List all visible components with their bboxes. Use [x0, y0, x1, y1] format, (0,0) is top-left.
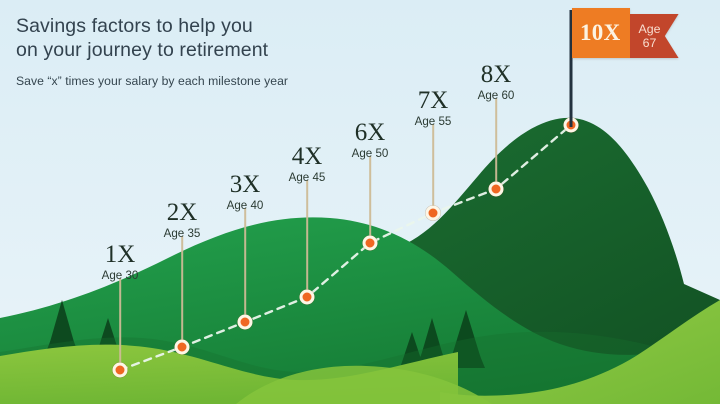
- milestone-multiplier: 1X: [102, 242, 139, 268]
- milestone-dot-6[interactable]: [426, 206, 441, 221]
- milestone-label-5: 6X Age 50: [352, 120, 389, 161]
- milestone-stem-2: [181, 236, 183, 345]
- milestone-label-7: 8X Age 60: [478, 62, 515, 103]
- milestone-age: Age 50: [352, 147, 389, 161]
- milestone-label-2: 2X Age 35: [164, 200, 201, 241]
- milestone-multiplier: 3X: [227, 172, 264, 198]
- page-subtitle: Save “x” times your salary by each miles…: [16, 74, 288, 89]
- milestone-stem-6: [432, 124, 434, 211]
- infographic-canvas: Savings factors to help you on your jour…: [0, 0, 720, 404]
- flag-age-value: 67: [643, 36, 657, 50]
- milestone-dot-7[interactable]: [489, 182, 504, 197]
- milestone-dot-2[interactable]: [175, 340, 190, 355]
- milestone-age: Age 55: [415, 115, 452, 129]
- milestone-label-4: 4X Age 45: [289, 144, 326, 185]
- milestone-multiplier: 2X: [164, 200, 201, 226]
- milestone-stem-4: [306, 180, 308, 295]
- milestone-age: Age 45: [289, 171, 326, 185]
- milestone-stem-3: [244, 208, 246, 320]
- milestone-age: Age 35: [164, 227, 201, 241]
- milestone-multiplier: 4X: [289, 144, 326, 170]
- summit-flag: 10X Age 67: [572, 8, 679, 58]
- flag-age-label: Age: [639, 22, 661, 36]
- milestone-age: Age 60: [478, 89, 515, 103]
- milestone-stem-7: [495, 98, 497, 187]
- milestone-label-3: 3X Age 40: [227, 172, 264, 213]
- milestone-stem-1: [119, 278, 121, 368]
- milestone-label-1: 1X Age 30: [102, 242, 139, 283]
- page-title: Savings factors to help you on your jour…: [16, 14, 288, 62]
- milestone-multiplier: 6X: [352, 120, 389, 146]
- milestone-stem-5: [369, 156, 371, 241]
- milestone-dot-1[interactable]: [113, 363, 128, 378]
- milestone-dot-4[interactable]: [300, 290, 315, 305]
- flag-multiplier: 10X: [572, 8, 630, 58]
- milestone-age: Age 40: [227, 199, 264, 213]
- milestone-dot-5[interactable]: [363, 236, 378, 251]
- milestone-age: Age 30: [102, 269, 139, 283]
- milestone-dot-3[interactable]: [238, 315, 253, 330]
- flag-age-banner: Age 67: [630, 14, 679, 58]
- header-block: Savings factors to help you on your jour…: [16, 14, 288, 89]
- milestone-multiplier: 7X: [415, 88, 452, 114]
- milestone-multiplier: 8X: [478, 62, 515, 88]
- milestone-label-6: 7X Age 55: [415, 88, 452, 129]
